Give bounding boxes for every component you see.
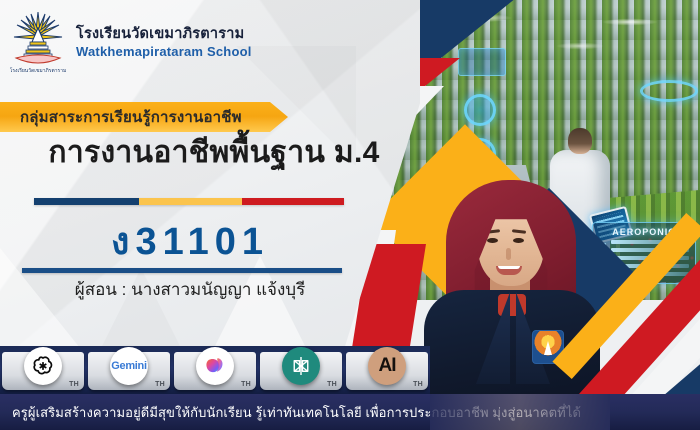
gemini-logo-icon[interactable]: Gemini <box>110 347 148 385</box>
tricolor-gold <box>139 198 241 205</box>
hud-ring-icon <box>464 138 496 170</box>
keycap-openai[interactable]: TH <box>2 352 84 390</box>
school-emblem-icon: โรงเรียนวัดเขมาภิรตาราม <box>10 8 66 78</box>
openai-logo-icon[interactable] <box>24 347 62 385</box>
keycap-claude[interactable]: AI TH <box>346 352 428 390</box>
page-title: การงานอาชีพพื้นฐาน ม.4 <box>14 136 414 169</box>
aeroponic-data-rows <box>599 240 689 276</box>
nose <box>506 248 511 260</box>
keycap-copilot[interactable]: TH <box>174 352 256 390</box>
keycap-th-mark: TH <box>69 381 79 388</box>
svg-text:โรงเรียนวัดเขมาภิรตาราม: โรงเรียนวัดเขมาภิรตาราม <box>10 67 66 74</box>
worker-head <box>568 128 592 154</box>
teacher-name: ผู้สอน : นางสาวมนัญญา แจ้งบุรี <box>0 276 380 303</box>
eye-right <box>513 238 524 243</box>
tricolor-navy <box>34 198 139 205</box>
keycap-th-mark: TH <box>413 381 423 388</box>
subject-group-label: กลุ่มสาระการเรียนรู้การงานอาชีพ <box>20 105 242 129</box>
course-code: ง31101 <box>0 210 380 271</box>
keycap-th-mark: TH <box>241 381 251 388</box>
school-name-thai: โรงเรียนวัดเขมาภิรตาราม <box>76 25 252 43</box>
school-header: โรงเรียนวัดเขมาภิรตาราม โรงเรียนวัดเขมาภ… <box>0 0 420 86</box>
gemini-label: Gemini <box>111 360 147 372</box>
blue-divider <box>22 268 342 273</box>
aeroponic-label: AEROPONIC <box>599 227 689 237</box>
claude-logo-icon[interactable]: AI <box>368 347 406 385</box>
hud-panel-icon <box>458 48 506 76</box>
keycap-gemini[interactable]: Gemini TH <box>88 352 170 390</box>
tricolor-divider <box>34 198 344 205</box>
hud-ring-icon <box>464 94 496 126</box>
ai-logo-bar: TH Gemini TH <box>0 346 430 394</box>
claude-label: AI <box>379 355 396 377</box>
school-name-block: โรงเรียนวัดเขมาภิรตาราม Watkhemapiratara… <box>76 25 252 60</box>
keycap-th-mark: TH <box>327 381 337 388</box>
school-name-english: Watkhemapirataram School <box>76 44 252 61</box>
keycap-th-mark: TH <box>155 381 165 388</box>
subject-group-ribbon: กลุ่มสาระการเรียนรู้การงานอาชีพ <box>0 102 288 132</box>
eye-left <box>487 238 498 243</box>
aeroponic-hud-card: AEROPONIC <box>592 222 696 284</box>
copilot-logo-icon[interactable] <box>196 347 234 385</box>
keycap-perplexity[interactable]: TH <box>260 352 342 390</box>
course-cover-banner: AEROPONIC <box>0 0 700 430</box>
teacher-portrait <box>424 178 600 430</box>
tricolor-red <box>242 198 344 205</box>
hud-ellipse-icon <box>640 80 698 102</box>
perplexity-logo-icon[interactable] <box>282 347 320 385</box>
school-badge-icon <box>532 330 564 364</box>
keycap-row: TH Gemini TH <box>0 352 430 392</box>
motto-photo-overlay <box>430 394 610 430</box>
